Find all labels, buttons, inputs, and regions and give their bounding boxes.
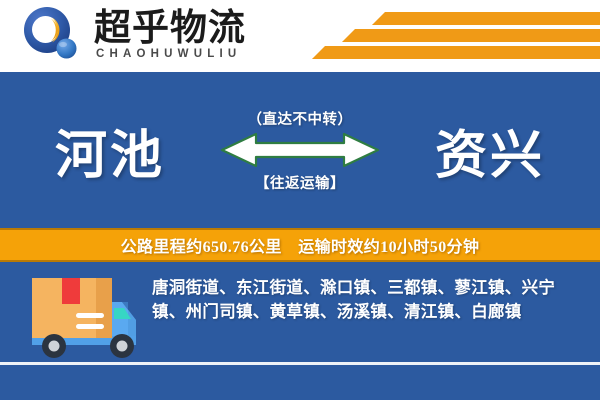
double-headed-arrow-icon — [220, 132, 380, 168]
destination-city: 资兴 — [385, 113, 595, 188]
route-row: 河池 （直达不中转） 【往返运输】 资兴 — [0, 72, 600, 228]
brand-text-block: 超乎物流 CHAOHUWULIU — [94, 8, 246, 62]
stripe-middle — [342, 29, 600, 42]
banner-body: 河池 （直达不中转） 【往返运输】 资兴 公路里程约650.76公里 运输时效约… — [0, 72, 600, 400]
stripe-top — [372, 12, 600, 25]
coverage-areas-text: 唐洞街道、东江街道、滁口镇、三都镇、蓼江镇、兴宁镇、州门司镇、黄草镇、汤溪镇、清… — [152, 276, 586, 324]
bottom-divider — [0, 362, 600, 365]
orange-speed-stripes-icon — [310, 8, 600, 66]
banner-header: 超乎物流 CHAOHUWULIU — [0, 0, 600, 72]
delivery-truck-icon — [18, 272, 142, 364]
route-note-direct: （直达不中转） — [248, 108, 353, 129]
coverage-section: 唐洞街道、东江街道、滁口镇、三都镇、蓼江镇、兴宁镇、州门司镇、黄草镇、汤溪镇、清… — [0, 262, 600, 400]
route-note-roundtrip: 【往返运输】 — [255, 172, 345, 193]
logistics-route-banner: 超乎物流 CHAOHUWULIU 河池 （直达不中转） 【往返运输】 — [0, 0, 600, 400]
circle-crescent-logo-icon — [22, 6, 84, 64]
origin-city: 河池 — [5, 113, 215, 188]
distance-duration-bar: 公路里程约650.76公里 运输时效约10小时50分钟 — [0, 228, 600, 262]
brand-name-cn: 超乎物流 — [94, 10, 246, 48]
stripe-bottom — [312, 46, 600, 59]
brand-lockup: 超乎物流 CHAOHUWULIU — [22, 6, 246, 64]
distance-duration-text: 公路里程约650.76公里 运输时效约10小时50分钟 — [121, 233, 480, 257]
brand-name-en: CHAOHUWULIU — [94, 48, 246, 62]
route-middle-group: （直达不中转） 【往返运输】 — [215, 108, 385, 193]
